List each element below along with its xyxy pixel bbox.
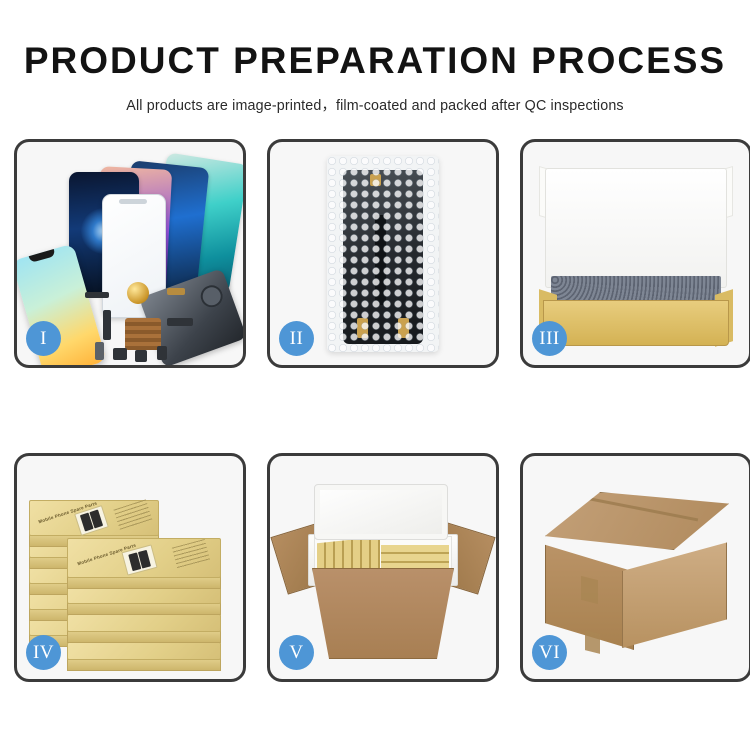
page-subtitle: All products are image-printed，film-coat… (0, 81, 750, 115)
step-panel-4: Mobile Phone Spare Parts Mobile Phone Sp… (14, 453, 246, 682)
carton-body-icon (312, 568, 454, 659)
step-panel-3: III (520, 139, 750, 368)
retail-box-icon (67, 642, 219, 658)
box-spec-text-icon (172, 539, 211, 569)
spare-part-icon (167, 288, 185, 295)
bubble-texture-icon (327, 156, 439, 352)
retail-box-top-left-icon: Mobile Phone Spare Parts (29, 500, 157, 534)
spare-part-icon (95, 342, 104, 360)
step-panel-6: VI (520, 453, 750, 682)
step-badge-3: III (532, 321, 567, 356)
carton-right-face-icon (622, 538, 727, 648)
retail-box-top-right-icon: Mobile Phone Spare Parts (67, 538, 219, 576)
logic-board-chip-icon (125, 318, 161, 350)
carton-tape-icon (581, 576, 598, 604)
step-badge-6: VI (532, 635, 567, 670)
spare-part-icon (113, 348, 127, 360)
foam-lid-icon (314, 484, 448, 540)
spare-part-icon (85, 292, 109, 298)
step-panel-5: V (267, 453, 499, 682)
carton-with-insert-icon (284, 484, 482, 659)
box-stack-icon: Mobile Phone Spare Parts Mobile Phone Sp… (27, 480, 235, 665)
step-badge-2: II (279, 321, 314, 356)
step-panel-1: I (14, 139, 246, 368)
step-badge-5: V (279, 635, 314, 670)
spare-part-icon (157, 346, 167, 360)
sealed-carton-icon (537, 492, 735, 657)
open-box-icon (539, 168, 733, 321)
carton-tape-icon (585, 630, 600, 654)
page-title: PRODUCT PREPARATION PROCESS (0, 0, 750, 81)
carton-seam-icon (580, 496, 699, 522)
process-steps-grid: I II (14, 139, 740, 692)
header: PRODUCT PREPARATION PROCESS All products… (0, 0, 750, 115)
step-panel-2: II (267, 139, 499, 368)
vibration-motor-icon (127, 282, 149, 304)
spare-part-icon (167, 318, 193, 326)
spare-part-icon (103, 310, 111, 340)
step-badge-1: I (26, 321, 61, 356)
retail-box-icon (67, 614, 219, 630)
product-preparation-infographic: PRODUCT PREPARATION PROCESS All products… (0, 0, 750, 750)
carton-top-face-icon (545, 492, 729, 550)
step-badge-4: IV (26, 635, 61, 670)
bubble-wrap-bag-icon (327, 156, 439, 352)
box-front-panel-icon (543, 300, 729, 346)
box-spec-text-icon (113, 499, 152, 530)
spare-part-icon (135, 350, 147, 362)
box-inner-lid-icon (545, 168, 727, 288)
